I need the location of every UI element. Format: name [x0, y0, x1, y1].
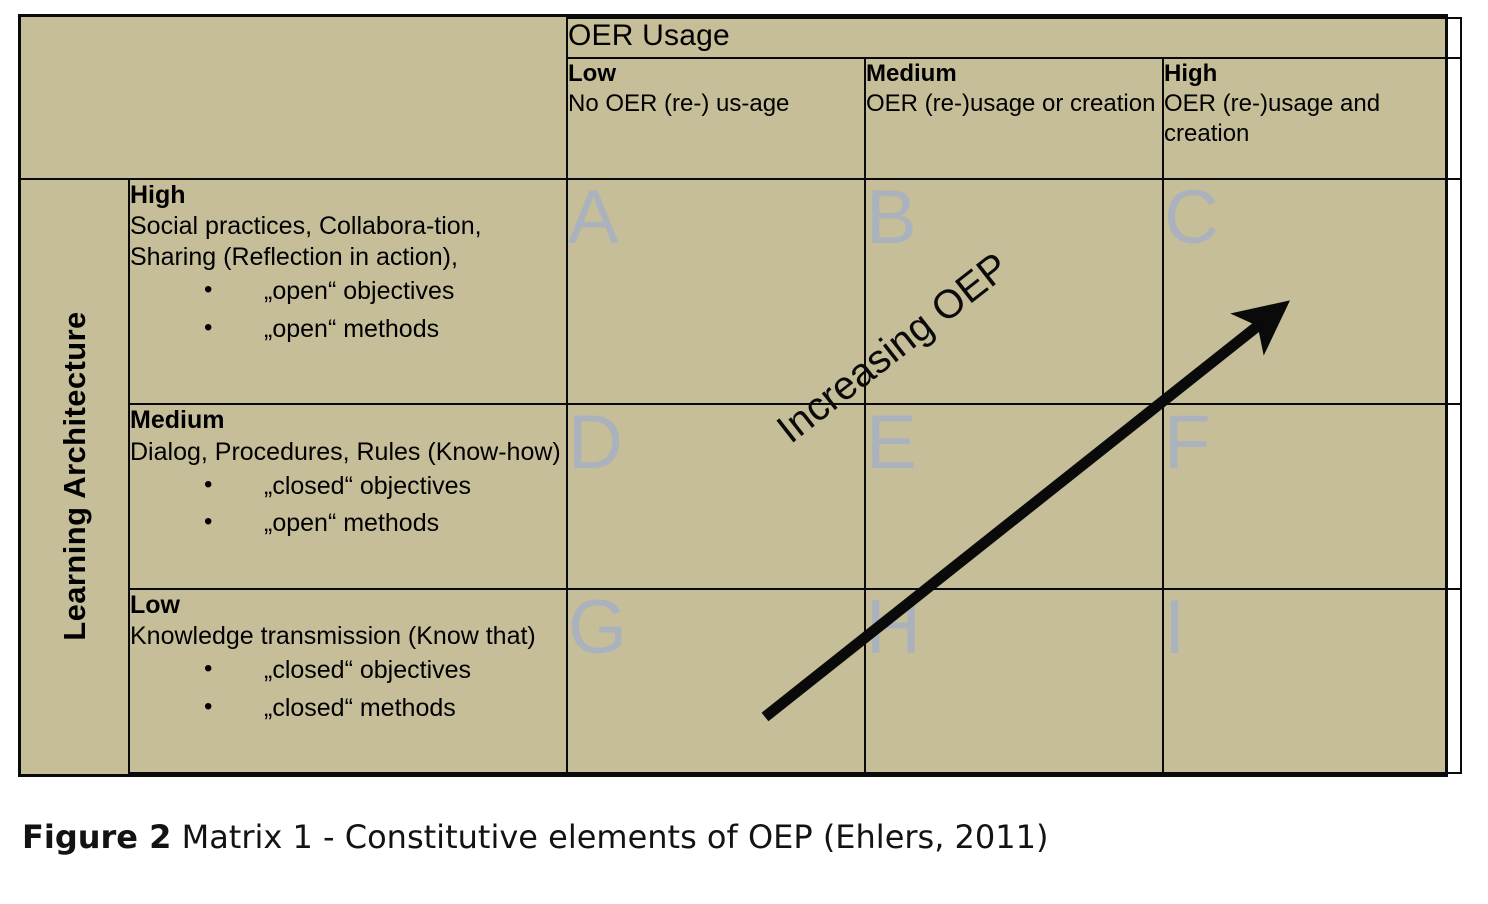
matrix-cell-letter: E — [866, 400, 917, 485]
matrix-cell-letter: D — [568, 400, 623, 485]
oep-matrix-figure: OER Usage Low No OER (re-) us-age Medium… — [18, 14, 1448, 777]
column-header-low: Low No OER (re-) us-age — [567, 58, 865, 179]
row-header-high-bullets: „open“ objectives „open“ methods — [130, 273, 566, 348]
row-header-medium: Medium Dialog, Procedures, Rules (Know-h… — [129, 404, 567, 588]
oep-matrix-table: OER Usage Low No OER (re-) us-age Medium… — [21, 17, 1462, 774]
matrix-cell-letter: C — [1164, 175, 1219, 260]
matrix-cell-letter: H — [866, 585, 921, 670]
column-header-high-description: OER (re-)usage and creation — [1164, 89, 1460, 149]
matrix-cell-b: B — [865, 179, 1163, 405]
matrix-cell-letter: G — [568, 585, 627, 670]
matrix-cell-g: G — [567, 589, 865, 773]
column-header-low-level: Low — [568, 59, 864, 89]
matrix-cell-e: E — [865, 404, 1163, 588]
list-item: „closed“ objectives — [204, 652, 566, 690]
column-header-high-level: High — [1164, 59, 1460, 89]
matrix-cell-c: C — [1163, 179, 1461, 405]
matrix-cell-letter: A — [568, 175, 619, 260]
matrix-cell-a: A — [567, 179, 865, 405]
row-header-high-level: High — [130, 180, 566, 211]
list-item: „open“ methods — [204, 311, 566, 349]
row-axis-title-cell: Learning Architecture — [21, 179, 129, 773]
column-header-medium-level: Medium — [866, 59, 1162, 89]
list-item: „closed“ methods — [204, 690, 566, 728]
figure-caption-text: Matrix 1 - Constitutive elements of OEP … — [171, 818, 1048, 856]
figure-caption-label: Figure 2 — [22, 818, 171, 856]
column-header-medium: Medium OER (re-)usage or creation — [865, 58, 1163, 179]
row-header-high-description: Social practices, Collabora-tion, Sharin… — [130, 211, 566, 274]
column-header-high: High OER (re-)usage and creation — [1163, 58, 1461, 179]
corner-blank-cell — [21, 18, 567, 179]
matrix-cell-letter: B — [866, 175, 917, 260]
column-header-medium-description: OER (re-)usage or creation — [866, 89, 1162, 119]
row-header-medium-description: Dialog, Procedures, Rules (Know-how) — [130, 437, 566, 468]
matrix-cell-f: F — [1163, 404, 1461, 588]
list-item: „closed“ objectives — [204, 468, 566, 506]
table-row: Medium Dialog, Procedures, Rules (Know-h… — [21, 404, 1461, 588]
row-header-medium-level: Medium — [130, 405, 566, 436]
matrix-cell-i: I — [1163, 589, 1461, 773]
row-header-low-description: Knowledge transmission (Know that) — [130, 621, 566, 652]
list-item: „open“ objectives — [204, 273, 566, 311]
table-header-row-top: OER Usage — [21, 18, 1461, 58]
list-item: „open“ methods — [204, 505, 566, 543]
row-header-medium-bullets: „closed“ objectives „open“ methods — [130, 468, 566, 543]
row-header-low: Low Knowledge transmission (Know that) „… — [129, 589, 567, 773]
row-header-low-level: Low — [130, 590, 566, 621]
matrix-cell-h: H — [865, 589, 1163, 773]
column-axis-title: OER Usage — [567, 18, 1461, 58]
matrix-cell-letter: F — [1164, 400, 1210, 485]
table-row: Low Knowledge transmission (Know that) „… — [21, 589, 1461, 773]
table-row: Learning Architecture High Social practi… — [21, 179, 1461, 405]
figure-caption: Figure 2 Matrix 1 - Constitutive element… — [22, 818, 1048, 856]
matrix-cell-letter: I — [1164, 585, 1185, 670]
row-header-high: High Social practices, Collabora-tion, S… — [129, 179, 567, 405]
row-axis-title: Learning Architecture — [57, 312, 93, 641]
column-header-low-description: No OER (re-) us-age — [568, 89, 864, 119]
row-header-low-bullets: „closed“ objectives „closed“ methods — [130, 652, 566, 727]
